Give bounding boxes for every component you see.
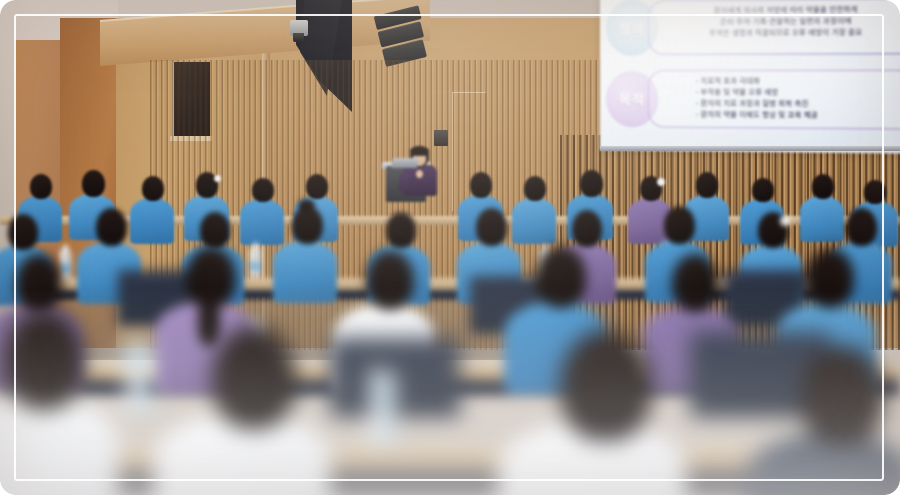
projection-screen: 정의/목적 정의 환자에게 의사의 처방에 따라 약물을 안전하게 준비·투여·… (600, 0, 900, 154)
slide-section-definition: 정의 환자에게 의사의 처방에 따라 약물을 안전하게 준비·투여·기록·관찰하… (606, 0, 900, 56)
slide-line: - 치료적 효과 극대화 (667, 77, 900, 89)
water-bottle (370, 372, 396, 446)
water-bottle (126, 342, 152, 412)
wall-speaker-icon (290, 20, 308, 36)
water-bottle (250, 248, 261, 277)
slide-line: - 부작용 및 약물 오류 예방 (667, 88, 900, 100)
audience (0, 150, 900, 495)
lecture-hall-photo: 정의/목적 정의 환자에게 의사의 처방에 따라 약물을 안전하게 준비·투여·… (0, 0, 900, 495)
wall-control-plate (434, 130, 448, 146)
photo-scene: 정의/목적 정의 환자에게 의사의 처방에 따라 약물을 안전하게 준비·투여·… (0, 0, 900, 495)
slide-line: - 환자의 치료 과정과 질병 회복 촉진 (667, 99, 900, 111)
water-bottle (60, 250, 71, 279)
slide-line: 투약은 생명과 직결되므로 오류 예방이 가장 중요 (667, 28, 900, 40)
slide-callout-definition: 환자에게 의사의 처방에 따라 약물을 안전하게 준비·투여·기록·관찰하는 일… (648, 0, 900, 55)
slide-line: - 환자의 약물 이해도 향상 및 교육 제공 (667, 110, 900, 123)
slide-callout-purpose: - 치료적 효과 극대화 - 부작용 및 약물 오류 예방 - 환자의 치료 과… (648, 70, 900, 130)
slide-section-purpose: 목적 - 치료적 효과 극대화 - 부작용 및 약물 오류 예방 - 환자의 치… (606, 70, 900, 130)
